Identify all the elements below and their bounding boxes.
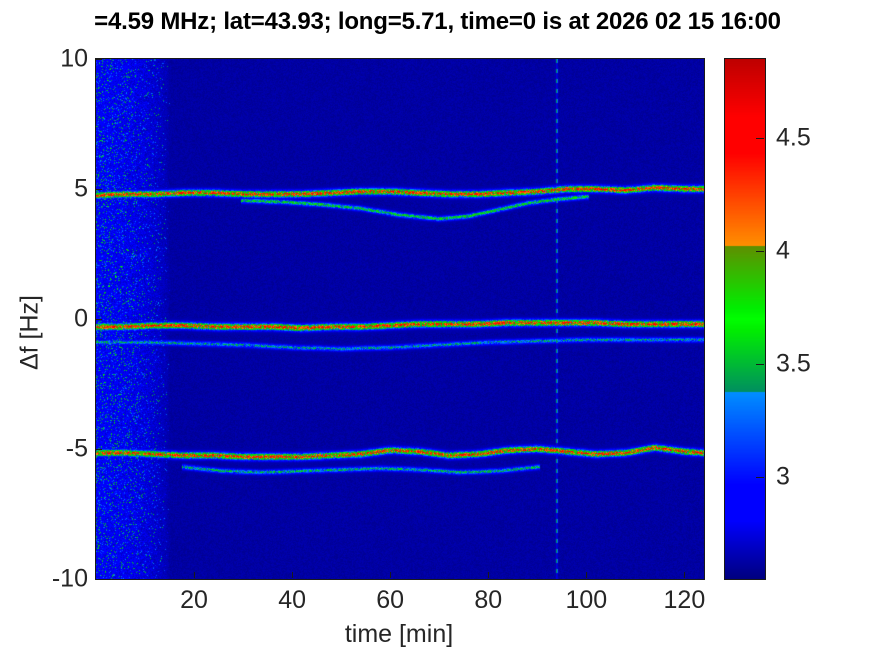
x-tick-mark	[684, 572, 685, 578]
x-tick-label: 60	[376, 586, 404, 615]
colorbar-gradient	[725, 59, 765, 579]
y-tick-mark	[96, 319, 102, 320]
x-tick-mark	[586, 572, 587, 578]
spectrogram-figure: =4.59 MHz; lat=43.93; long=5.71, time=0 …	[0, 0, 875, 656]
x-tick-label: 80	[474, 586, 502, 615]
colorbar-tick-mark	[756, 251, 764, 252]
y-tick-label: 0	[4, 305, 88, 334]
x-tick-label: 120	[664, 586, 706, 615]
colorbar-tick-label: 4	[776, 237, 790, 266]
y-tick-mark	[96, 59, 102, 60]
y-tick-label: 10	[4, 45, 88, 74]
y-tick-mark	[96, 449, 102, 450]
colorbar-tick-mark	[756, 138, 764, 139]
x-tick-mark	[194, 572, 195, 578]
x-axis-label: time [min]	[95, 620, 703, 649]
y-tick-label: -5	[4, 435, 88, 464]
plot-axes[interactable]	[95, 58, 705, 580]
x-tick-mark	[292, 572, 293, 578]
y-tick-mark	[96, 579, 102, 580]
x-tick-mark	[488, 572, 489, 578]
y-tick-label: 5	[4, 175, 88, 204]
colorbar[interactable]	[724, 58, 766, 580]
y-tick-mark	[96, 189, 102, 190]
spectrogram-image[interactable]	[96, 59, 704, 579]
x-tick-mark	[390, 572, 391, 578]
y-axis-ticks: 1050-5-10	[0, 0, 88, 656]
page-title: =4.59 MHz; lat=43.93; long=5.71, time=0 …	[0, 8, 875, 36]
x-tick-label: 20	[180, 586, 208, 615]
colorbar-tick-label: 3	[776, 463, 790, 492]
colorbar-tick-label: 3.5	[776, 350, 811, 379]
colorbar-tick-label: 4.5	[776, 124, 811, 153]
y-tick-label: -10	[4, 565, 88, 594]
x-tick-label: 40	[278, 586, 306, 615]
colorbar-tick-mark	[756, 477, 764, 478]
x-tick-label: 100	[565, 586, 607, 615]
colorbar-tick-mark	[756, 364, 764, 365]
